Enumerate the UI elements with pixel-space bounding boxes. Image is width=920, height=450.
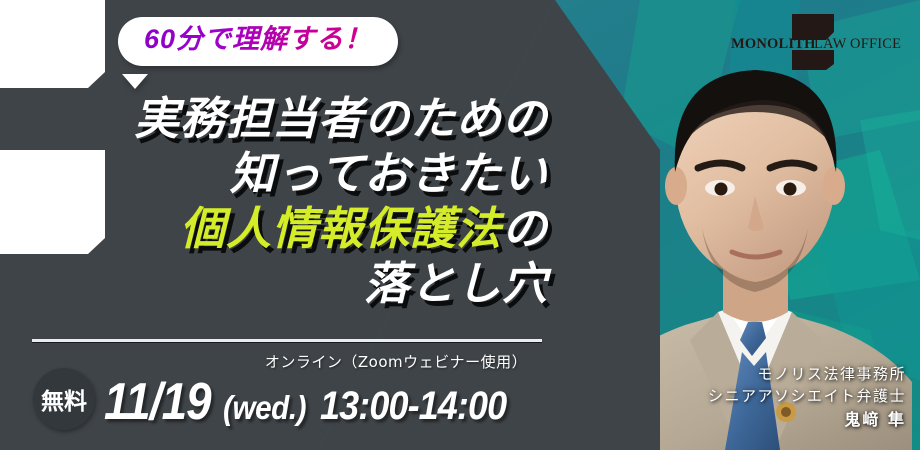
event-day-of-week: (wed.) (223, 389, 306, 427)
headline-line-1: 実務担当者のための (0, 92, 548, 147)
monolith-law-office-logo: MONOLITH LAW OFFICE (730, 10, 906, 72)
speaker-name: 鬼﨑 隼 (676, 408, 906, 431)
event-date: 11/19 (104, 372, 211, 432)
headline-line-3: 個人情報保護法の (0, 202, 548, 257)
webinar-banner: MONOLITH LAW OFFICE 60分で理解する！ 実務担当者のための … (0, 0, 920, 450)
event-datetime: 11/19 (wed.) 13:00-14:00 (104, 372, 527, 432)
bubble-tail-icon (122, 74, 148, 89)
catchphrase-text: 60分で理解する！ (144, 23, 372, 57)
headline-accent-text: 個人情報保護法 (180, 203, 502, 254)
speaker-info: モノリス法律事務所 シニアアソシエイト弁護士 鬼﨑 隼 (676, 364, 906, 431)
event-time: 13:00-14:00 (320, 384, 506, 429)
free-badge: 無料 (33, 368, 95, 430)
event-format: オンライン（Zoomウェビナー使用） (250, 351, 542, 372)
logo-name-bold: MONOLITH (731, 36, 816, 52)
headline-line-2: 知っておきたい (0, 147, 548, 202)
headline-line-3-tail: の (502, 203, 548, 254)
speaker-title: シニアアソシエイト弁護士 (676, 386, 906, 408)
catchphrase-bubble: 60分で理解する！ (118, 17, 398, 66)
free-badge-label: 無料 (41, 382, 87, 416)
headline-line-4: 落とし穴 (0, 257, 548, 312)
page-title: 実務担当者のための 知っておきたい 個人情報保護法の 落とし穴 (0, 92, 570, 312)
speaker-firm: モノリス法律事務所 (676, 364, 906, 386)
divider (32, 339, 542, 342)
logo-name-light: LAW OFFICE (814, 36, 901, 52)
